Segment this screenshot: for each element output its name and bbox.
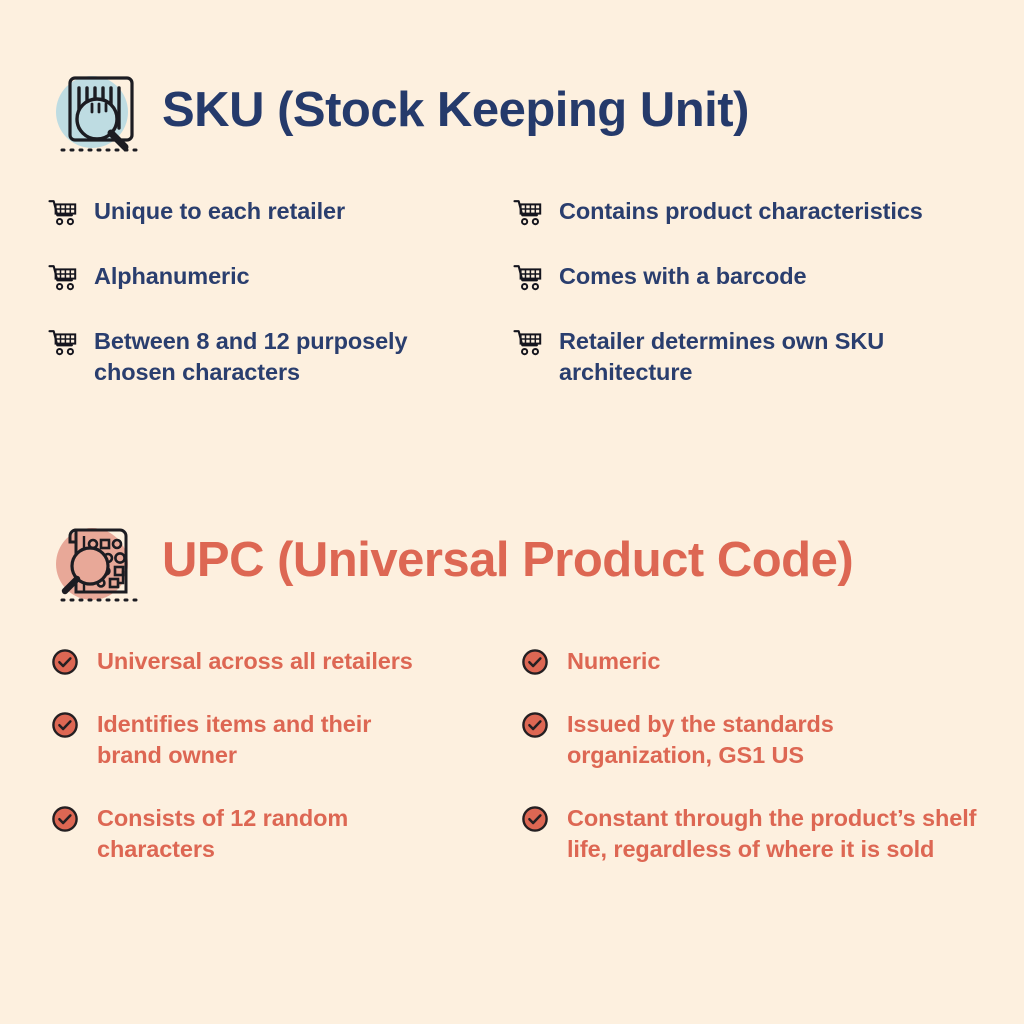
list-item: Alphanumeric xyxy=(48,261,513,326)
shopping-cart-icon xyxy=(48,198,78,228)
shopping-cart-icon xyxy=(48,328,78,358)
check-circle-icon xyxy=(521,805,551,835)
list-item-label: Numeric xyxy=(567,646,660,677)
list-item: Between 8 and 12 purposely chosen charac… xyxy=(48,326,513,422)
list-item-label: Unique to each retailer xyxy=(94,196,345,227)
shopping-cart-icon xyxy=(513,198,543,228)
list-item: Numeric xyxy=(521,646,1008,709)
check-circle-icon xyxy=(521,711,551,741)
qrcode-magnifier-icon xyxy=(48,512,144,608)
list-item: Retailer determines own SKU architecture xyxy=(513,326,1008,422)
check-circle-icon xyxy=(51,648,81,678)
shopping-cart-icon xyxy=(48,263,78,293)
list-item: Identifies items and their brand owner xyxy=(51,709,521,803)
list-item-label: Alphanumeric xyxy=(94,261,250,292)
list-item: Universal across all retailers xyxy=(51,646,521,709)
list-item: Issued by the standards organization, GS… xyxy=(521,709,1008,803)
list-item: Constant through the product’s shelf lif… xyxy=(521,803,1008,897)
list-item-label: Identifies items and their brand owner xyxy=(97,709,437,771)
list-item-label: Issued by the standards organization, GS… xyxy=(567,709,897,771)
check-circle-icon xyxy=(51,711,81,741)
upc-section-header: UPC (Universal Product Code) xyxy=(48,512,1008,608)
list-item: Contains product characteristics xyxy=(513,196,1008,261)
sku-bullet-list: Unique to each retailer xyxy=(48,196,1008,422)
sku-section-header: SKU (Stock Keeping Unit) xyxy=(48,62,1008,158)
shopping-cart-icon xyxy=(513,328,543,358)
list-item-label: Universal across all retailers xyxy=(97,646,413,677)
infographic-page: SKU (Stock Keeping Unit) xyxy=(0,0,1024,1024)
upc-bullet-list: Universal across all retailers Numeric xyxy=(51,646,1008,897)
list-item-label: Constant through the product’s shelf lif… xyxy=(567,803,992,865)
shopping-cart-icon xyxy=(513,263,543,293)
section-upc: UPC (Universal Product Code) Universal a… xyxy=(48,512,1008,897)
list-item-label: Comes with a barcode xyxy=(559,261,806,292)
section-sku: SKU (Stock Keeping Unit) xyxy=(48,62,1008,422)
list-item-label: Between 8 and 12 purposely chosen charac… xyxy=(94,326,464,388)
list-item: Unique to each retailer xyxy=(48,196,513,261)
page-title-sku: SKU (Stock Keeping Unit) xyxy=(162,86,749,135)
list-item-label: Consists of 12 random characters xyxy=(97,803,417,865)
check-circle-icon xyxy=(51,805,81,835)
list-item: Consists of 12 random characters xyxy=(51,803,521,897)
list-item: Comes with a barcode xyxy=(513,261,1008,326)
list-item-label: Retailer determines own SKU architecture xyxy=(559,326,949,388)
check-circle-icon xyxy=(521,648,551,678)
barcode-magnifier-icon xyxy=(48,62,144,158)
page-title-upc: UPC (Universal Product Code) xyxy=(162,536,853,585)
list-item-label: Contains product characteristics xyxy=(559,196,923,227)
